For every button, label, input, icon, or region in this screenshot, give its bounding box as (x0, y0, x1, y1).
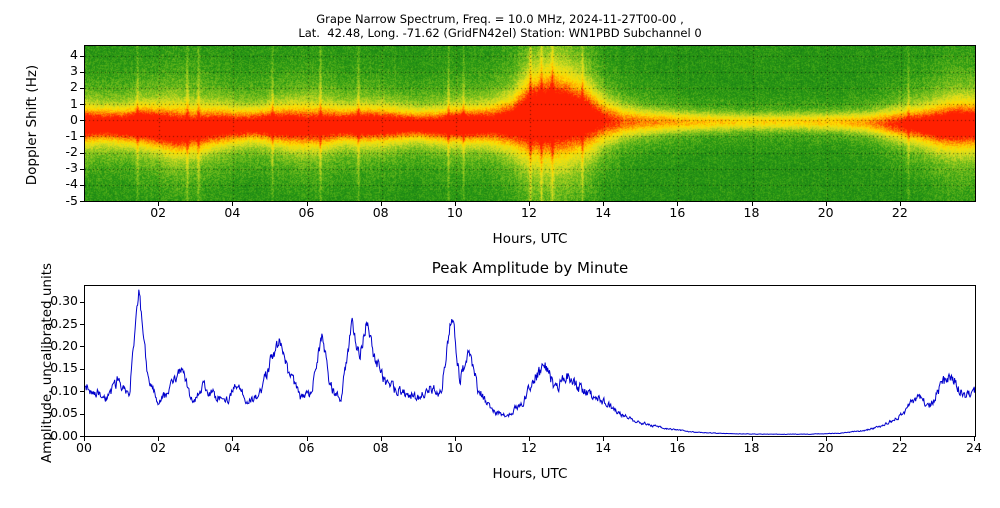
spectrogram-x-tick-label: 22 (880, 207, 920, 220)
spectrogram-y-tick-mark (80, 153, 84, 154)
amplitude-x-tick-mark (974, 437, 975, 441)
spectrogram-x-tick-mark (826, 202, 827, 206)
spectrogram-y-tick-label: -2 (40, 146, 78, 159)
amplitude-x-tick-label: 02 (138, 442, 178, 455)
spectrogram-y-tick-mark (80, 88, 84, 89)
amplitude-y-tick-mark (80, 414, 84, 415)
spectrogram-y-tick-mark (80, 169, 84, 170)
spectrogram-y-tick-mark (80, 136, 84, 137)
amplitude-x-tick-mark (752, 437, 753, 441)
spectrogram-y-tick-label: 0 (40, 114, 78, 127)
spectrogram-y-tick-mark (80, 201, 84, 202)
amplitude-x-tick-mark (455, 437, 456, 441)
spectrogram-x-tick-label: 14 (583, 207, 623, 220)
spectrogram-x-tick-mark (232, 202, 233, 206)
spectrogram-y-tick-mark (80, 56, 84, 57)
spectrogram-y-axis-label: Doppler Shift (Hz) (24, 45, 40, 205)
spectrogram-y-tick-label: 4 (40, 49, 78, 62)
spectrogram-plot-area (84, 45, 976, 202)
spectrogram-y-tick-mark (80, 72, 84, 73)
amplitude-x-tick-label: 12 (509, 442, 549, 455)
spectrogram-y-tick-mark (80, 185, 84, 186)
spectrogram-x-tick-mark (381, 202, 382, 206)
spectrogram-x-tick-mark (529, 202, 530, 206)
spectrogram-y-tick-label: 2 (40, 81, 78, 94)
spectrogram-image (85, 46, 975, 201)
amplitude-y-tick-mark (80, 346, 84, 347)
spectrogram-y-tick-label: -1 (40, 130, 78, 143)
amplitude-x-tick-mark (826, 437, 827, 441)
figure-root: Grape Narrow Spectrum, Freq. = 10.0 MHz,… (0, 0, 1000, 500)
amplitude-x-tick-label: 14 (583, 442, 623, 455)
spectrogram-x-tick-mark (455, 202, 456, 206)
spectrogram-x-tick-label: 02 (138, 207, 178, 220)
amplitude-x-tick-label: 24 (954, 442, 994, 455)
spectrogram-y-tick-label: -5 (40, 195, 78, 208)
spectrogram-x-tick-label: 10 (435, 207, 475, 220)
spectrogram-x-axis-label: Hours, UTC (84, 231, 976, 247)
amplitude-plot-area (84, 285, 976, 437)
amplitude-x-tick-mark (158, 437, 159, 441)
spectrogram-x-tick-mark (900, 202, 901, 206)
spectrogram-x-tick-label: 04 (212, 207, 252, 220)
spectrogram-x-tick-mark (603, 202, 604, 206)
amplitude-y-tick-mark (80, 391, 84, 392)
amplitude-x-tick-mark (529, 437, 530, 441)
amplitude-x-tick-label: 06 (287, 442, 327, 455)
amplitude-x-tick-label: 16 (657, 442, 697, 455)
spectrogram-y-tick-label: 3 (40, 65, 78, 78)
figure-title-line-2: Lat. 42.48, Long. -71.62 (GridFN42el) St… (0, 26, 1000, 40)
spectrogram-y-tick-label: -3 (40, 162, 78, 175)
amplitude-x-tick-mark (603, 437, 604, 441)
spectrogram-x-tick-label: 08 (361, 207, 401, 220)
amplitude-x-tick-mark (381, 437, 382, 441)
amplitude-x-tick-label: 00 (64, 442, 104, 455)
amplitude-x-tick-mark (307, 437, 308, 441)
amplitude-x-tick-mark (232, 437, 233, 441)
amplitude-y-tick-mark (80, 324, 84, 325)
spectrogram-x-tick-label: 18 (732, 207, 772, 220)
amplitude-x-tick-label: 20 (806, 442, 846, 455)
amplitude-x-axis-label: Hours, UTC (84, 466, 976, 482)
amplitude-x-tick-label: 22 (880, 442, 920, 455)
spectrogram-x-tick-mark (158, 202, 159, 206)
spectrogram-y-tick-label: 1 (40, 98, 78, 111)
amplitude-polyline (85, 290, 975, 435)
amplitude-x-tick-label: 04 (212, 442, 252, 455)
amplitude-y-tick-mark (80, 369, 84, 370)
amplitude-x-tick-mark (677, 437, 678, 441)
spectrogram-x-tick-mark (752, 202, 753, 206)
spectrogram-x-tick-label: 12 (509, 207, 549, 220)
amplitude-y-axis-label: Amplitude, uncalibrated units (39, 218, 55, 508)
spectrogram-y-tick-mark (80, 120, 84, 121)
spectrogram-y-tick-label: -4 (40, 178, 78, 191)
figure-title-line-1: Grape Narrow Spectrum, Freq. = 10.0 MHz,… (0, 12, 1000, 26)
amplitude-line-series (85, 286, 975, 436)
spectrogram-x-tick-mark (307, 202, 308, 206)
spectrogram-x-tick-label: 16 (657, 207, 697, 220)
amplitude-plot-title: Peak Amplitude by Minute (84, 259, 976, 277)
spectrogram-x-tick-label: 20 (806, 207, 846, 220)
amplitude-x-tick-label: 10 (435, 442, 475, 455)
amplitude-x-tick-mark (84, 437, 85, 441)
spectrogram-x-tick-mark (677, 202, 678, 206)
spectrogram-y-tick-mark (80, 104, 84, 105)
spectrogram-x-tick-label: 06 (287, 207, 327, 220)
amplitude-x-tick-mark (900, 437, 901, 441)
amplitude-x-tick-label: 18 (732, 442, 772, 455)
amplitude-y-tick-mark (80, 302, 84, 303)
amplitude-x-tick-label: 08 (361, 442, 401, 455)
